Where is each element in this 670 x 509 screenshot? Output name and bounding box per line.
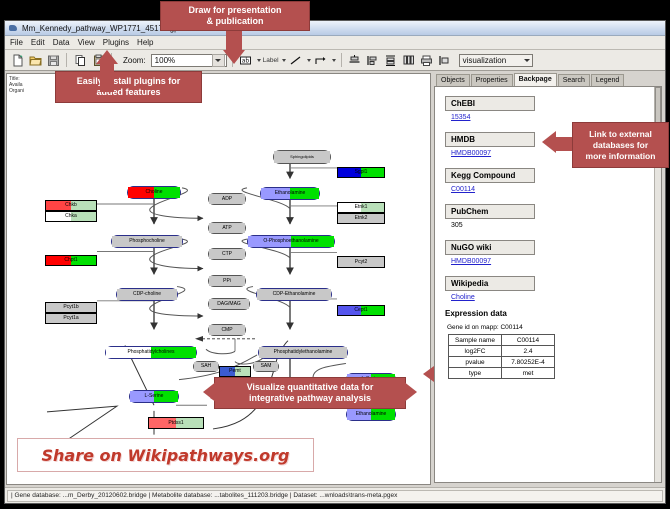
pathway-canvas[interactable]: Title: Availa Organi <box>6 73 431 485</box>
callout-visualize: Visualize quantitative data for integrat… <box>214 377 406 409</box>
expression-data-heading: Expression data <box>445 309 661 318</box>
title-bar: Mm_Kennedy_pathway_WP1771_45176.gpml <box>5 21 665 36</box>
callout-visualize-line2: integrative pathway analysis <box>249 393 371 404</box>
expression-table: Sample nameC00114log2FC2.4pvalue7.80252E… <box>448 334 555 379</box>
tab-legend[interactable]: Legend <box>591 74 624 86</box>
callout-draw-line1: Draw for presentation <box>188 5 281 16</box>
node-label: Phosphocholine <box>129 239 165 244</box>
align-left-icon[interactable] <box>365 52 381 68</box>
menu-item-view[interactable]: View <box>78 38 95 47</box>
side-panel-tabs: Objects Properties Backpage Search Legen… <box>432 73 664 86</box>
share-banner: Share on Wikipathways.org <box>17 438 314 472</box>
db-header-chebi: ChEBI <box>445 96 535 111</box>
main-content: Title: Availa Organi <box>5 72 665 486</box>
tab-properties[interactable]: Properties <box>471 74 513 86</box>
visualization-value: visualization <box>463 56 507 65</box>
connector-icon[interactable] <box>313 52 329 68</box>
metabolite-node-l-serine-left[interactable]: L-Serine <box>129 390 179 403</box>
new-file-icon[interactable] <box>9 52 25 68</box>
node-label: CTP <box>222 252 232 257</box>
node-label: SAM <box>261 364 272 369</box>
expression-row-value: met <box>502 368 555 379</box>
expression-row: typemet <box>449 368 555 379</box>
db-header-hmdb: HMDB <box>445 132 535 147</box>
callout-plugins-stalk <box>100 60 114 92</box>
node-label: ADP <box>222 197 232 202</box>
db-value-kegg-compound[interactable]: C00114 <box>451 186 661 193</box>
node-label: Chkb <box>65 203 77 208</box>
tab-objects[interactable]: Objects <box>436 74 470 86</box>
gene-node-sgpl1[interactable]: Sgpl1 <box>337 167 385 178</box>
node-label: PPi <box>223 279 231 284</box>
db-header-pubchem: PubChem <box>445 204 535 219</box>
chevron-down-icon[interactable] <box>282 59 286 62</box>
node-label: O-Phosphoethanolamine <box>263 239 318 244</box>
metabolite-node-phosphatidylethanolamine[interactable]: Phosphatidylethanolamine <box>258 346 348 359</box>
db-value-nugo-wiki[interactable]: HMDB00097 <box>451 258 661 265</box>
status-bar: | Gene database: ...m_Derby_20120602.bri… <box>5 487 665 503</box>
db-value-chebi[interactable]: 15354 <box>451 114 661 121</box>
metabolite-node-sah[interactable]: SAH <box>193 361 219 372</box>
app-icon <box>8 23 18 33</box>
gene-node-pcyt1a[interactable]: Pcyt1a <box>45 313 97 324</box>
gene-node-cept1[interactable]: Cept1 <box>337 305 385 316</box>
align-center-icon[interactable] <box>347 52 363 68</box>
node-label: Choline <box>146 190 163 195</box>
callout-visualize-line1: Visualize quantitative data for <box>247 382 374 393</box>
expression-row-label: log2FC <box>449 346 502 357</box>
zoom-combobox[interactable]: 100% <box>151 54 227 67</box>
share-banner-text: Share on Wikipathways.org <box>42 446 290 465</box>
db-value-wikipedia[interactable]: Choline <box>451 294 661 301</box>
metabolite-node-cdp-choline[interactable]: CDP-choline <box>116 288 178 301</box>
gene-node-ptdss1[interactable]: Ptdss1 <box>148 417 204 429</box>
line-icon[interactable] <box>288 52 304 68</box>
node-label: CMP <box>221 328 232 333</box>
node-label: Pcyt1b <box>63 305 78 310</box>
save-icon[interactable] <box>45 52 61 68</box>
node-label: ATP <box>222 226 231 231</box>
metabolite-node-ethanolamine-top[interactable]: Ethanolamine <box>260 187 320 200</box>
node-label: SAH <box>201 364 211 369</box>
metabolite-node-ppi[interactable]: PPi <box>208 275 246 287</box>
copy-icon[interactable] <box>72 52 88 68</box>
node-label: Pcyt1a <box>63 316 78 321</box>
expression-row-value: C00114 <box>502 335 555 346</box>
node-label: Ethanolamine <box>275 191 306 196</box>
gene-id-line: Gene id on mapp: C00114 <box>447 324 661 331</box>
callout-draw-arrow <box>223 50 245 64</box>
canvas-metadata: Title: Availa Organi <box>9 76 24 94</box>
zoom-label: Zoom: <box>123 56 146 65</box>
distribute-vertical-icon[interactable] <box>383 52 399 68</box>
metabolite-node-choline-top[interactable]: Choline <box>127 186 181 199</box>
node-label: Pemt <box>229 369 241 374</box>
menu-bar: File Edit Data View Plugins Help <box>5 36 665 50</box>
gene-node-chpt1[interactable]: Chpt1 <box>45 255 97 266</box>
callout-links-line2: databases for <box>593 140 648 151</box>
expression-row: pvalue7.80252E-4 <box>449 357 555 368</box>
chevron-down-icon <box>215 59 221 62</box>
distribute-horizontal-icon[interactable] <box>401 52 417 68</box>
db-value-pubchem: 305 <box>451 222 661 229</box>
chevron-down-icon[interactable] <box>257 59 261 62</box>
node-label: CDP-Ethanolamine <box>273 292 316 297</box>
node-label: Etnk1 <box>355 205 368 210</box>
chevron-down-icon[interactable] <box>332 59 336 62</box>
callout-expression-arrow <box>423 366 434 382</box>
toolbar-separator <box>66 53 67 67</box>
metabolite-node-cdp-ethanolamine[interactable]: CDP-Ethanolamine <box>256 288 332 301</box>
tab-backpage[interactable]: Backpage <box>514 73 557 86</box>
status-bar-inner: | Gene database: ...m_Derby_20120602.bri… <box>7 490 663 502</box>
expression-row-value: 2.4 <box>502 346 555 357</box>
expression-row: log2FC2.4 <box>449 346 555 357</box>
stack-icon[interactable] <box>437 52 453 68</box>
metabolite-node-sphingolipids[interactable]: Sphingolipids <box>273 150 331 164</box>
menu-item-edit[interactable]: Edit <box>31 38 45 47</box>
metabolite-node-atp[interactable]: ATP <box>208 222 246 234</box>
expression-row-label: type <box>449 368 502 379</box>
canvas-meta-organism: Organi <box>9 88 24 94</box>
toolbar-separator <box>341 53 342 67</box>
gene-node-etnk2[interactable]: Etnk2 <box>337 213 385 224</box>
menu-item-help[interactable]: Help <box>137 38 153 47</box>
node-label: Phosphatidylcholines <box>128 350 175 355</box>
node-label: Chka <box>65 214 77 219</box>
application-window: Mm_Kennedy_pathway_WP1771_45176.gpml Fil… <box>4 20 666 504</box>
gene-node-pcyt2[interactable]: Pcyt2 <box>337 256 385 268</box>
node-label: Etnk2 <box>355 216 368 221</box>
node-label: Sphingolipids <box>290 155 314 159</box>
gene-node-chkb[interactable]: Chkb <box>45 200 97 211</box>
gene-node-etnk1[interactable]: Etnk1 <box>337 202 385 213</box>
callout-visualize-arrow-right <box>403 381 417 403</box>
node-label: Pcyt2 <box>355 260 368 265</box>
status-bar-text: | Gene database: ...m_Derby_20120602.bri… <box>11 492 397 499</box>
node-label: Phosphatidylethanolamine <box>274 350 333 355</box>
callout-plugins: Easily install plugins for added feature… <box>55 71 202 103</box>
chevron-down-icon <box>524 59 530 62</box>
expression-row-label: pvalue <box>449 357 502 368</box>
expression-row-label: Sample name <box>449 335 502 346</box>
db-header-nugo-wiki: NuGO wiki <box>445 240 535 255</box>
node-label: Cept1 <box>354 308 367 313</box>
metabolite-node-cmp[interactable]: CMP <box>208 324 246 336</box>
metabolite-node-dag-mag[interactable]: DAG/MAG <box>208 298 250 310</box>
metabolite-node-ctp[interactable]: CTP <box>208 248 246 260</box>
callout-plugins-arrow <box>96 50 118 64</box>
gene-node-pcyt1b[interactable]: Pcyt1b <box>45 302 97 313</box>
node-label: L-Serine <box>145 394 164 399</box>
chevron-down-icon[interactable] <box>307 59 311 62</box>
metabolite-node-ethanolamine-bottom[interactable]: Ethanolamine <box>346 408 396 421</box>
callout-links-line3: more information <box>586 151 656 162</box>
metabolite-node-o-phosphoethanolamine[interactable]: O-Phosphoethanolamine <box>247 235 335 248</box>
metabolite-node-sam[interactable]: SAM <box>253 361 279 372</box>
callout-draw: Draw for presentation & publication <box>160 1 310 31</box>
callout-plugins-line1: Easily install plugins for <box>77 76 181 87</box>
expression-row: Sample nameC00114 <box>449 335 555 346</box>
menu-item-data[interactable]: Data <box>53 38 70 47</box>
node-label: Sgpl1 <box>355 170 368 175</box>
node-label: Ptdss1 <box>168 421 183 426</box>
zoom-value: 100% <box>155 56 175 65</box>
callout-links-line1: Link to external <box>589 129 652 140</box>
gene-node-chka[interactable]: Chka <box>45 211 97 222</box>
callout-visualize-arrow-to-choline <box>210 389 224 407</box>
gene-node-pemt[interactable]: Pemt <box>219 366 251 377</box>
node-label: Ethanolamine <box>356 412 387 417</box>
callout-links: Link to external databases for more info… <box>572 122 669 168</box>
metabolite-node-phosphocholine[interactable]: Phosphocholine <box>111 235 183 248</box>
expression-row-value: 7.80252E-4 <box>502 357 555 368</box>
menu-item-plugins[interactable]: Plugins <box>103 38 129 47</box>
callout-links-arrow <box>542 131 556 153</box>
metabolite-node-phosphatidylcholines[interactable]: Phosphatidylcholines <box>105 346 197 359</box>
tab-search[interactable]: Search <box>558 74 590 86</box>
node-label: Chpt1 <box>64 258 77 263</box>
node-label: DAG/MAG <box>217 302 241 307</box>
db-header-kegg-compound: Kegg Compound <box>445 168 535 183</box>
label-tool-label[interactable]: Label <box>263 57 279 64</box>
metabolite-node-adp[interactable]: ADP <box>208 193 246 205</box>
visualization-combobox[interactable]: visualization <box>459 54 533 67</box>
node-label: CDP-choline <box>133 292 161 297</box>
db-header-wikipedia: Wikipedia <box>445 276 535 291</box>
print-icon[interactable] <box>419 52 435 68</box>
open-folder-icon[interactable] <box>27 52 43 68</box>
callout-draw-line2: & publication <box>207 16 264 27</box>
menu-item-file[interactable]: File <box>10 38 23 47</box>
